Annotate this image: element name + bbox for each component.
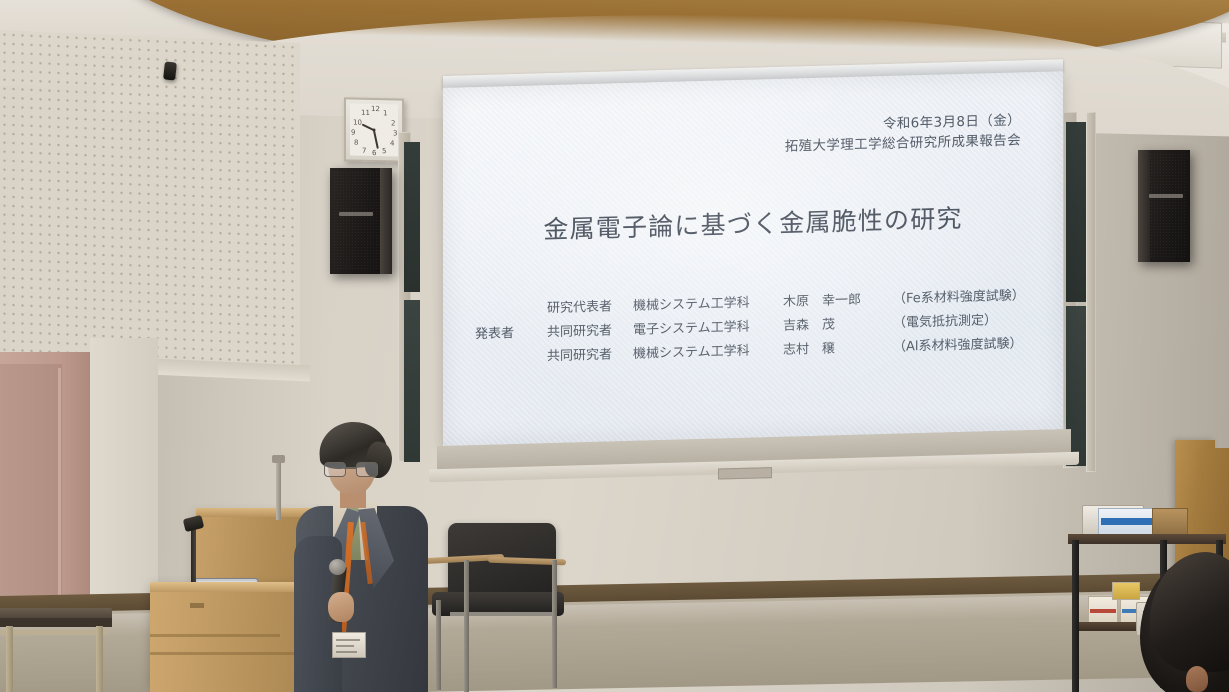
mic-pole-cap [272,455,285,463]
presenter-label-spacer [471,360,547,362]
security-camera-icon [163,61,177,80]
chalkboard-frame-right-outer [1086,112,1096,472]
wall-speaker-right [1138,150,1190,262]
shelf-top-surface [1068,534,1226,544]
lectern-groove [150,652,300,655]
clock-numeral: 8 [354,139,358,147]
clock-numeral: 7 [362,147,366,155]
projected-slide: 令和6年3月8日（金） 拓殖大学理工学総合研究所成果報告会 金属電子論に基づく金… [443,71,1063,446]
chair-leg [552,560,557,688]
clock-numeral: 12 [371,105,380,113]
slide-title: 金属電子論に基づく金属脆性の研究 [443,196,1063,249]
clock-minute-hand [373,130,379,149]
audience-member-ear [1186,666,1208,692]
author-name: 木原 幸一郎 [783,288,893,315]
gooseneck-mic-stand [191,525,196,585]
presenter-label: 発表者 [471,321,547,347]
lectern-groove [150,634,280,637]
package-brown [1152,508,1188,536]
clock-numeral: 11 [361,109,370,117]
author-dept: 機械システム工学科 [633,339,783,367]
clock-center-pin [373,128,376,131]
clock-numeral: 4 [390,139,394,147]
clock-numeral: 1 [383,109,387,117]
screen-ledge-slot [718,467,772,479]
clock-numeral: 2 [391,119,395,127]
author-note: （電気抵抗測定） [893,309,997,336]
clock-numeral: 5 [382,147,386,155]
microphone-head [329,559,346,575]
author-role: 研究代表者 [547,295,633,321]
shelf-post [1072,540,1079,692]
shelf-box [1088,596,1118,624]
package-blue [1098,508,1156,536]
side-table-leg [6,626,13,692]
clock-numeral: 3 [393,129,397,137]
glasses-lens-left [324,462,346,477]
presenter-hand [328,592,354,622]
wall-speaker-left [330,168,392,274]
author-role: 共同研究者 [547,319,633,345]
chalkboard-right-upper [1066,122,1088,302]
projection-screen: 令和6年3月8日（金） 拓殖大学理工学総合研究所成果報告会 金属電子論に基づく金… [443,71,1063,460]
side-table-leg [96,626,103,692]
mic-pole [276,460,281,520]
chalkboard-left-upper [404,142,420,292]
glasses-icon [324,462,376,475]
chair-leg [464,560,469,692]
slide-content: 令和6年3月8日（金） 拓殖大学理工学総合研究所成果報告会 金属電子論に基づく金… [443,71,1063,446]
slide-author-block: 研究代表者 機械システム工学科 木原 幸一郎 （Fe系材料強度試験） 発表者 共… [471,284,1041,371]
presenter-label-spacer [471,312,547,314]
author-note: （Al系材料強度試験） [893,332,1023,360]
glasses-bridge [344,467,356,469]
clock-numeral: 10 [353,119,362,127]
clock-numeral: 6 [372,149,376,157]
glasses-lens-right [356,462,378,477]
author-note: （Fe系材料強度試験） [893,284,1025,312]
lecture-hall-photo: 12 1 2 3 4 5 6 7 8 9 10 11 [0,0,1229,692]
presenter [288,418,438,692]
slide-header: 令和6年3月8日（金） 拓殖大学理工学総合研究所成果報告会 [785,110,1021,156]
side-table-rail [0,630,108,635]
name-badge [332,632,366,658]
wall-clock: 12 1 2 3 4 5 6 7 8 9 10 11 [344,97,404,162]
author-name: 吉森 茂 [783,312,893,339]
clock-numeral: 9 [351,129,355,137]
perforated-acoustic-panel [0,30,300,373]
shelf-box-small [1112,582,1140,600]
lectern-plaque [190,603,204,608]
author-name: 志村 穣 [783,336,893,363]
author-role: 共同研究者 [547,343,633,369]
clock-face: 12 1 2 3 4 5 6 7 8 9 10 11 [350,103,398,156]
